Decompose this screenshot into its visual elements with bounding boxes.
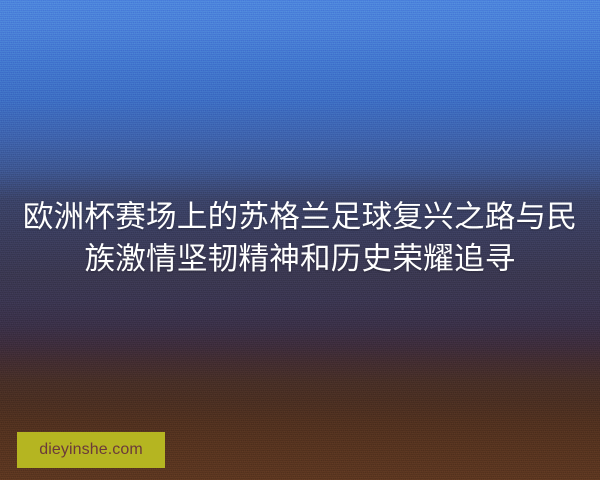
banner-headline: 欧洲杯赛场上的苏格兰足球复兴之路与民族激情坚韧精神和历史荣耀追寻 bbox=[0, 196, 600, 280]
watermark-site-label: dieyinshe.com bbox=[39, 442, 143, 458]
banner-image: 欧洲杯赛场上的苏格兰足球复兴之路与民族激情坚韧精神和历史荣耀追寻 dieyins… bbox=[0, 0, 600, 480]
watermark-badge: dieyinshe.com bbox=[17, 432, 165, 468]
